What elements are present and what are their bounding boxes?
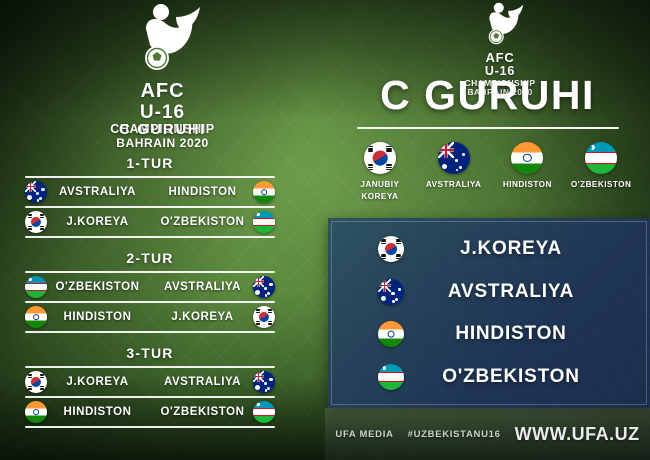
match-home-team: HINDISTON (45, 406, 150, 418)
flag-uz-icon (253, 211, 275, 233)
match-divider (25, 426, 275, 428)
match-row[interactable]: J.KOREYAO'ZBEKISTON (25, 208, 275, 236)
match-row[interactable]: O'ZBEKISTONAVSTRALIYA (25, 273, 275, 301)
match-away-team: O'ZBEKISTON (150, 406, 255, 418)
round-block: 1-TURAVSTRALIYAHINDISTONJ.KOREYAO'ZBEKIS… (25, 155, 275, 238)
group-team-label: O'ZBEKISTON (566, 179, 636, 191)
round-title: 2-TUR (25, 250, 275, 266)
flag-au-icon (438, 142, 470, 174)
poster-root: AFC U-16 CHAMPIONSHIP BAHRAIN 2020 C GUR… (0, 0, 650, 460)
round-title: 3-TUR (25, 345, 275, 361)
match-away-team: HINDISTON (150, 186, 255, 198)
match-row[interactable]: J.KOREYAAVSTRALIYA (25, 368, 275, 396)
left-group-title: C GURUHI (0, 121, 325, 138)
standings-team-name: J.KOREYA (404, 238, 618, 260)
group-team-label: JANUBIY KOREYA (345, 179, 415, 203)
standings-team-name: AVSTRALIYA (404, 281, 618, 303)
match-divider (25, 236, 275, 238)
group-standings-list: J.KOREYAAVSTRALIYAHINDISTONO'ZBEKISTON (338, 228, 640, 398)
group-team-item[interactable]: O'ZBEKISTON (566, 142, 636, 191)
standings-team-name: O'ZBEKISTON (404, 366, 618, 388)
afc-logo-afc-text: AFC (85, 81, 240, 103)
flag-uz-icon (253, 401, 275, 423)
footer-media-label: UFA MEDIA (335, 429, 393, 440)
standings-row[interactable]: J.KOREYA (338, 228, 640, 271)
flag-uz-icon (25, 276, 47, 298)
flag-in-icon (25, 306, 47, 328)
flag-in-icon (253, 181, 275, 203)
group-team-label: HINDISTON (492, 179, 562, 191)
afc-logo-host-year-text: BAHRAIN 2020 (85, 137, 240, 150)
match-divider (25, 331, 275, 333)
flag-kr-icon (364, 142, 396, 174)
right-divider (357, 127, 619, 129)
flag-uz-icon (378, 364, 404, 390)
flag-kr-icon (253, 306, 275, 328)
afc-emblem-icon (473, 2, 527, 50)
afc-emblem-icon (120, 3, 206, 79)
match-home-team: J.KOREYA (45, 216, 150, 228)
flag-au-icon (25, 181, 47, 203)
footer-hashtag: #UZBEKISTANU16 (408, 429, 501, 440)
flag-kr-icon (25, 211, 47, 233)
standings-row[interactable]: HINDISTON (338, 313, 640, 356)
right-group-title: C GURUHI (325, 72, 650, 119)
standings-row[interactable]: AVSTRALIYA (338, 271, 640, 314)
flag-in-icon (378, 321, 404, 347)
flag-au-icon (253, 371, 275, 393)
left-column: AFC U-16 CHAMPIONSHIP BAHRAIN 2020 C GUR… (0, 0, 325, 460)
match-home-team: AVSTRALIYA (45, 186, 150, 198)
round-block: 3-TURJ.KOREYAAVSTRALIYAHINDISTONO'ZBEKIS… (25, 345, 275, 428)
match-row[interactable]: HINDISTONO'ZBEKISTON (25, 398, 275, 426)
footer-bar: UFA MEDIA #UZBEKISTANU16 WWW.UFA.UZ (325, 408, 650, 460)
flag-uz-icon (585, 142, 617, 174)
match-away-team: O'ZBEKISTON (150, 216, 255, 228)
match-away-team: J.KOREYA (150, 311, 255, 323)
flag-in-icon (25, 401, 47, 423)
group-teams-row: JANUBIY KOREYAAVSTRALIYAHINDISTONO'ZBEKI… (343, 142, 638, 203)
group-team-label: AVSTRALIYA (419, 179, 489, 191)
match-away-team: AVSTRALIYA (150, 376, 255, 388)
group-team-item[interactable]: HINDISTON (492, 142, 562, 191)
match-row[interactable]: HINDISTONJ.KOREYA (25, 303, 275, 331)
flag-au-icon (253, 276, 275, 298)
standings-team-name: HINDISTON (404, 323, 618, 345)
round-block: 2-TURO'ZBEKISTONAVSTRALIYAHINDISTONJ.KOR… (25, 250, 275, 333)
flag-in-icon (511, 142, 543, 174)
afc-logo-afc-text: AFC (430, 51, 570, 65)
flag-kr-icon (25, 371, 47, 393)
group-team-item[interactable]: JANUBIY KOREYA (345, 142, 415, 203)
match-row[interactable]: AVSTRALIYAHINDISTON (25, 178, 275, 206)
group-team-item[interactable]: AVSTRALIYA (419, 142, 489, 191)
footer-website[interactable]: WWW.UFA.UZ (515, 424, 640, 445)
match-home-team: O'ZBEKISTON (45, 281, 150, 293)
standings-row[interactable]: O'ZBEKISTON (338, 356, 640, 399)
match-away-team: AVSTRALIYA (150, 281, 255, 293)
flag-kr-icon (378, 236, 404, 262)
group-standings-panel: J.KOREYAAVSTRALIYAHINDISTONO'ZBEKISTON (328, 218, 650, 408)
flag-au-icon (378, 279, 404, 305)
match-home-team: J.KOREYA (45, 376, 150, 388)
rounds-list: 1-TURAVSTRALIYAHINDISTONJ.KOREYAO'ZBEKIS… (25, 155, 275, 440)
match-home-team: HINDISTON (45, 311, 150, 323)
round-title: 1-TUR (25, 155, 275, 171)
